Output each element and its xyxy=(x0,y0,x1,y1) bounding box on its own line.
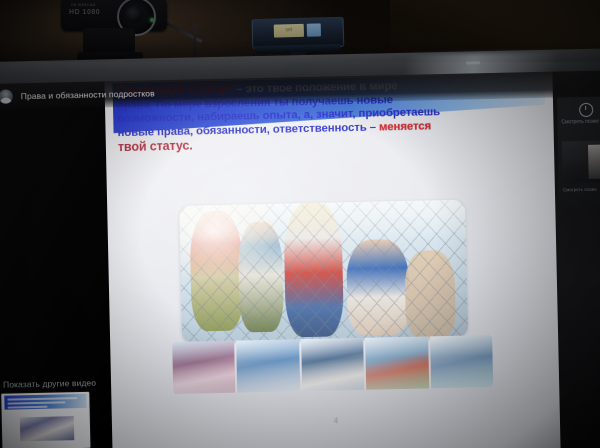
suggested-video-thumbnail[interactable] xyxy=(1,392,90,448)
webcam-lens xyxy=(126,6,143,23)
filmstrip-cell xyxy=(237,339,301,392)
side-suggestion-card[interactable]: Смотреть позже Смотреть позже xyxy=(557,96,600,209)
slide-page-number: 4 xyxy=(112,412,560,431)
filmstrip-cell xyxy=(430,335,493,388)
side-card-thumbnail-figure xyxy=(588,145,600,179)
channel-avatar-icon[interactable] xyxy=(0,89,13,103)
slide-filmstrip xyxy=(172,335,493,394)
watch-later-clock-icon[interactable] xyxy=(579,103,593,117)
show-more-videos-label[interactable]: Показать другие видео xyxy=(3,378,96,390)
slide-photo-teenagers xyxy=(179,200,468,344)
video-title[interactable]: Права и обязанности подростков xyxy=(21,88,155,101)
webcam-model-label: HD 1080 xyxy=(69,9,100,16)
presentation-slide: Правовой статус – это твое положение в м… xyxy=(104,72,560,448)
monitor: Правовой статус – это твое положение в м… xyxy=(0,48,600,448)
device-display: set xyxy=(274,24,304,38)
device-button[interactable] xyxy=(307,23,321,36)
filmstrip-cell xyxy=(172,341,236,394)
side-card-subtext: Смотреть позже xyxy=(563,186,600,193)
webcam-brand-label: HD WEBCAM xyxy=(71,3,96,7)
thumbnail-photo xyxy=(20,416,75,441)
side-card-headline: Смотреть позже xyxy=(561,118,600,126)
photo-of-monitor-scene: HD WEBCAM HD 1080 set Право xyxy=(0,0,600,448)
photo-lens-flare xyxy=(179,200,281,282)
slide-emphasis-inline: меняется xyxy=(379,120,431,133)
filmstrip-cell xyxy=(365,336,429,389)
webcam-status-led xyxy=(150,18,154,22)
filmstrip-cell xyxy=(301,338,365,391)
monitor-screen: Правовой статус – это твое положение в м… xyxy=(0,70,600,448)
